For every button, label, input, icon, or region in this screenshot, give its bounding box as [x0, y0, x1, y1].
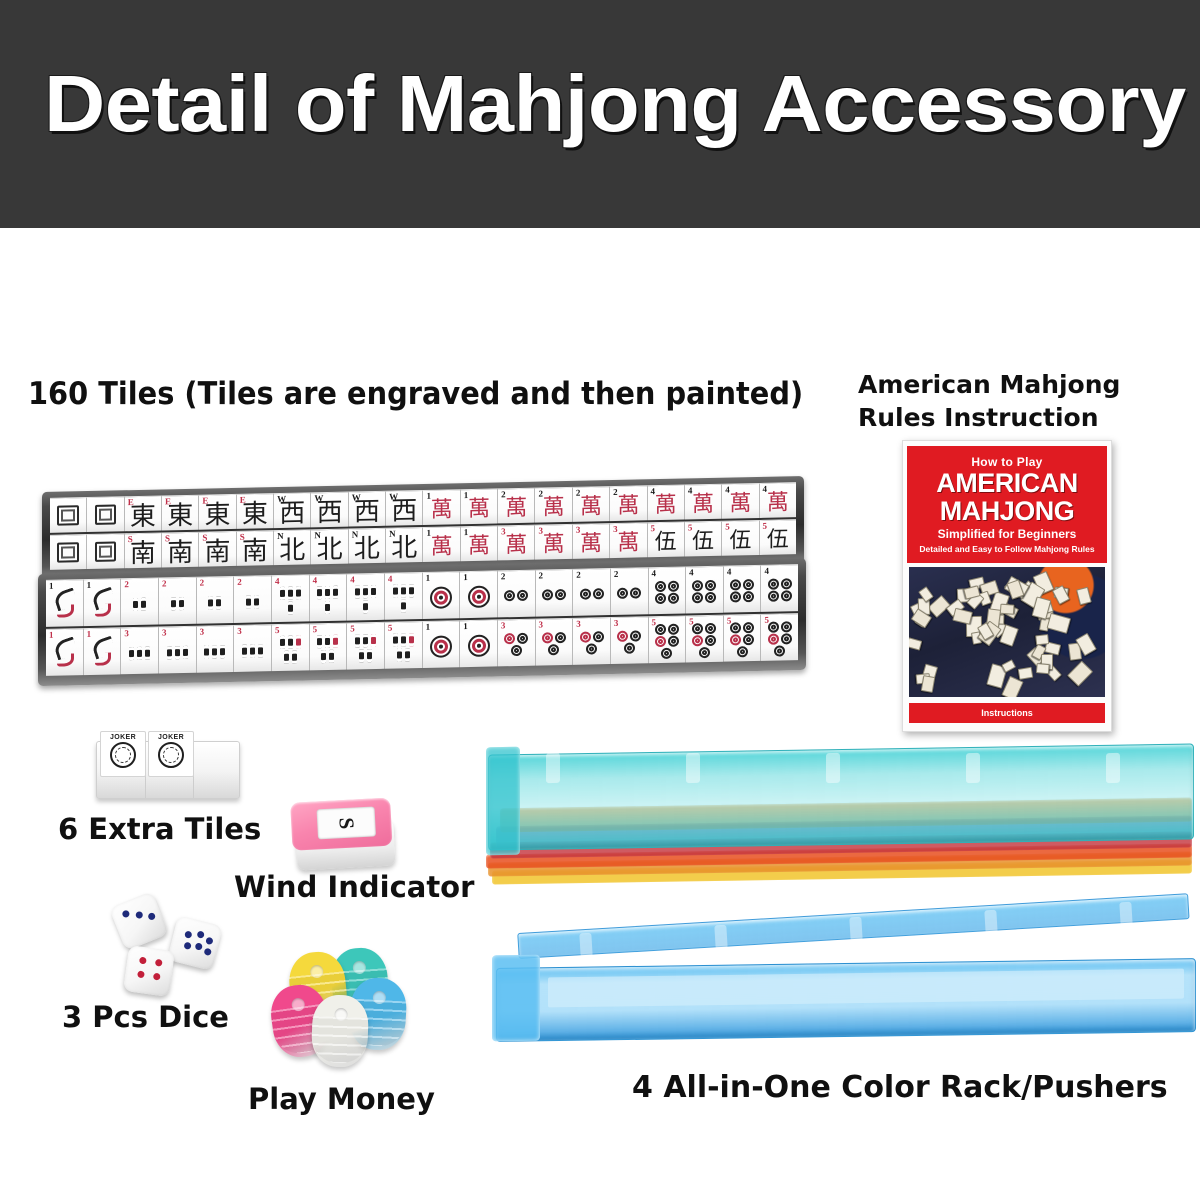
bamboo-bird-icon [50, 634, 79, 671]
blank-tile-frame [57, 505, 79, 525]
die-pip [183, 942, 191, 950]
tile-corner-label: 3 [538, 525, 543, 535]
tile-glyph: 萬 [580, 494, 602, 520]
mahjong-tile: 2 [611, 567, 649, 615]
mahjong-tile: 3萬 [573, 523, 610, 559]
bamboo-stick [175, 646, 180, 659]
tile-corner-label: 3 [576, 619, 581, 629]
tile-corner-label: 2 [162, 578, 167, 588]
tile-glyph: 北 [391, 535, 417, 562]
racks-caption: 4 All-in-One Color Rack/Pushers [632, 1070, 1168, 1105]
dot-circle [768, 591, 779, 602]
dot-circles [577, 631, 606, 655]
mahjong-tile: 4 [385, 572, 423, 620]
bamboo-stick [171, 597, 176, 610]
tile-corner-label: 4 [764, 566, 769, 576]
mahjong-tile: 4 [761, 564, 798, 612]
bamboo-stick [409, 584, 414, 597]
tile-corner-label: 4 [652, 568, 657, 578]
dot-circle [692, 580, 703, 591]
tile-corner-label: N [352, 529, 359, 539]
mahjong-tile: 5 [385, 621, 423, 669]
bamboo-sticks [125, 646, 154, 660]
bamboo-stick [329, 650, 334, 663]
mahjong-tile: 3 [536, 618, 574, 666]
tile-corner-label: S [202, 533, 207, 543]
bamboo-stick [220, 645, 225, 658]
blank-tile-frame [95, 542, 117, 562]
die-pip [155, 959, 163, 967]
dot-circle [781, 621, 792, 632]
die-pip [205, 937, 213, 945]
tile-glyph: 萬 [543, 495, 565, 521]
die-pip [153, 973, 161, 981]
tile-corner-label: 3 [539, 619, 544, 629]
mahjong-tile: 4萬 [648, 485, 685, 521]
extra-tiles-caption: 6 Extra Tiles [58, 812, 261, 846]
tile-tray: 1122224444112222444411333355551133335555 [38, 558, 806, 686]
bamboo-stick [296, 587, 301, 600]
tile-glyph: 萬 [617, 530, 639, 556]
dot-circle [624, 643, 635, 654]
mahjong-tile: S南 [199, 531, 236, 567]
dot-circle [730, 634, 741, 645]
tile-corner-label: 1 [464, 490, 469, 500]
mahjong-tile: 1 [460, 570, 498, 618]
mahjong-tile: 5 [649, 615, 687, 663]
tile-glyph: 萬 [505, 532, 527, 558]
tile-glyph: 萬 [617, 493, 639, 519]
tile-corner-label: 2 [237, 577, 242, 587]
bamboo-stick [401, 584, 406, 597]
mahjong-tile: 5 [272, 623, 310, 671]
tile-corner-label: 5 [689, 616, 694, 626]
cover-photo-tile [1000, 604, 1015, 615]
bamboo-stick [325, 586, 330, 599]
tile-corner-label: E [240, 495, 246, 505]
mahjong-tile: 1 [84, 578, 122, 626]
dot-circle [730, 622, 741, 633]
rack-body-teal [488, 743, 1194, 850]
mahjong-tile [87, 533, 124, 569]
bamboo-stick [288, 636, 293, 649]
mahjong-tile: 3 [498, 619, 536, 667]
dot-circle [655, 581, 666, 592]
die-pip [184, 930, 192, 938]
mahjong-tile: 5 [724, 614, 762, 662]
dot-circle [555, 632, 566, 643]
dot-circle [468, 585, 490, 607]
die-pip [196, 930, 204, 938]
tile-corner-label: W [389, 492, 398, 502]
tile-glyph: 萬 [729, 491, 751, 517]
bamboo-stick [355, 585, 360, 598]
dot-circle [517, 590, 528, 601]
tile-corner-label: 2 [613, 487, 618, 497]
bamboo-sticks [276, 586, 305, 615]
bamboo-stick [280, 587, 285, 600]
bamboo-stick [321, 650, 326, 663]
dot-circle [743, 579, 754, 590]
dot-circle [743, 634, 754, 645]
cover-photo-tile [1017, 667, 1033, 680]
bamboo-stick [167, 646, 172, 659]
tile-corner-label: S [240, 532, 245, 542]
dot-circle [668, 624, 679, 635]
rack-rib [714, 925, 727, 950]
bamboo-sticks [276, 635, 305, 664]
tile-glyph: 西 [354, 498, 380, 525]
rules-caption: American Mahjong Rules Instruction [858, 368, 1188, 434]
mahjong-tile: N北 [349, 528, 386, 564]
joker-circle-icon [110, 742, 136, 768]
dot-circle [630, 587, 641, 598]
bamboo-sticks [314, 586, 343, 615]
bamboo-stick [367, 649, 372, 662]
joker-circle-icon [158, 742, 184, 768]
tile-corner-label: 2 [501, 571, 506, 581]
dot-circle [468, 634, 490, 656]
dot-circle [730, 579, 741, 590]
bamboo-bird-icon [87, 633, 116, 670]
tile-corner-label: W [352, 492, 361, 502]
tile-corner-label: 4 [275, 576, 280, 586]
tile-corner-label: 5 [651, 523, 656, 533]
rules-booklet: How to Play AMERICAN MAHJONG Simplified … [902, 440, 1112, 732]
dot-circle [617, 588, 628, 599]
rack-end-cap [492, 955, 540, 1042]
mahjong-tile: 4 [272, 574, 310, 622]
bamboo-stick [325, 635, 330, 648]
mahjong-tile: 4 [649, 566, 687, 614]
tile-glyph: 伍 [729, 528, 751, 554]
mahjong-tile: E東 [199, 494, 236, 530]
dot-circle [668, 636, 679, 647]
tile-glyph: 東 [167, 502, 193, 529]
die-pip [147, 912, 156, 921]
cover-photo-tile [953, 608, 974, 625]
rack-rib [1119, 901, 1132, 926]
bamboo-stick [145, 646, 150, 659]
tile-corner-label: 5 [763, 521, 768, 531]
dot-circle [768, 579, 779, 590]
mahjong-tile: 2 [498, 570, 536, 618]
mahjong-tile: 4萬 [722, 483, 759, 519]
joker-tile-label: JOKER [110, 734, 136, 741]
page-title: Detail of Mahjong Accessory [44, 62, 1200, 146]
mahjong-tile: 4 [724, 565, 762, 613]
bamboo-stick [246, 595, 251, 608]
bamboo-stick [216, 596, 221, 609]
dot-circles [690, 623, 719, 659]
dot-circle [743, 622, 754, 633]
tile-corner-label: 3 [501, 526, 506, 536]
dot-circle [705, 623, 716, 634]
bamboo-sticks [201, 596, 230, 610]
booklet-title-line2: MAHJONG [940, 497, 1075, 525]
cover-photo-tile [1046, 613, 1070, 634]
dot-circles [765, 621, 794, 657]
mahjong-tile: 3 [234, 624, 272, 672]
dot-circle [705, 635, 716, 646]
mahjong-tile: 4 [310, 574, 348, 622]
mahjong-tile: 3萬 [535, 524, 572, 560]
dot-circles [539, 632, 568, 656]
mahjong-tile: 2 [536, 569, 574, 617]
mahjong-tile: 2萬 [610, 485, 647, 521]
dot-circle [699, 647, 710, 658]
bamboo-stick [359, 649, 364, 662]
dot-circle [593, 588, 604, 599]
mahjong-tile: 5 [347, 622, 385, 670]
tile-glyph: 南 [167, 539, 193, 566]
rack-rib [686, 753, 700, 783]
cover-photo-tile [1076, 587, 1092, 606]
bamboo-stick [288, 587, 293, 600]
mahjong-tile: 1 [46, 628, 84, 676]
dot-circle [730, 591, 741, 602]
tile-glyph: 北 [279, 537, 305, 564]
bamboo-stick [325, 601, 330, 614]
dot-circle [774, 645, 785, 656]
tile-glyph: 東 [130, 503, 156, 530]
play-money-chip-stack [311, 994, 369, 1068]
dot-circle [781, 633, 792, 644]
mahjong-tile: 5伍 [722, 520, 759, 556]
bamboo-stick [317, 635, 322, 648]
bamboo-stick [183, 645, 188, 658]
tile-glyph: 萬 [767, 490, 789, 516]
wind-indicator-window: S [317, 806, 376, 839]
mahjong-tile: 2 [234, 575, 272, 623]
mahjong-tile: 1萬 [461, 525, 498, 561]
rack-pusher-single [490, 905, 1200, 1055]
dot-circle [655, 624, 666, 635]
tile-corner-label: 3 [162, 627, 167, 637]
bamboo-stick [363, 634, 368, 647]
bamboo-sticks [389, 584, 418, 613]
die-pip [139, 957, 147, 965]
cover-photo-tile [1035, 663, 1049, 674]
tile-corner-label: S [165, 533, 170, 543]
dot-circles [615, 630, 644, 654]
bamboo-stick [208, 596, 213, 609]
mahjong-tile: 1萬 [423, 489, 460, 525]
bamboo-stick [317, 586, 322, 599]
dot-circles [426, 586, 455, 609]
tile-glyph: 南 [205, 539, 231, 566]
dot-circle [705, 580, 716, 591]
dot-circles [426, 635, 455, 658]
mahjong-tile: 3 [121, 627, 159, 675]
booklet-title-line1: AMERICAN [936, 469, 1078, 497]
mahjong-tile: S南 [237, 530, 274, 566]
bamboo-stick [333, 635, 338, 648]
wind-indicator-letter: S [333, 816, 359, 829]
bamboo-stick [292, 651, 297, 664]
bamboo-stick [371, 634, 376, 647]
mahjong-tile: 5伍 [760, 519, 796, 555]
dot-circle [430, 586, 452, 608]
booklet-subtitle: Simplified for Beginners [938, 527, 1077, 541]
tile-corner-label: E [165, 496, 171, 506]
dot-circle [668, 593, 679, 604]
bamboo-stick [280, 636, 285, 649]
tile-glyph: 萬 [505, 495, 527, 521]
bamboo-stick [137, 646, 142, 659]
mahjong-tile: E東 [237, 493, 274, 529]
tile-corner-label: S [128, 534, 133, 544]
joker-tile: JOKER [148, 731, 194, 777]
dot-circle [768, 634, 779, 645]
tile-corner-label: 4 [313, 575, 318, 585]
bamboo-sticks [201, 645, 230, 659]
bamboo-bird-icon [50, 585, 79, 622]
bamboo-stick [179, 596, 184, 609]
booklet-how-to-play: How to Play [971, 455, 1042, 469]
dot-circle [580, 588, 591, 599]
tile-corner-label: 3 [200, 627, 205, 637]
tile-glyph: 萬 [543, 532, 565, 558]
rack-rib [849, 917, 862, 942]
tile-corner-label: 2 [539, 570, 544, 580]
mahjong-tile: N北 [386, 527, 423, 563]
bamboo-stick [363, 585, 368, 598]
die [167, 915, 223, 971]
bamboo-stick [250, 644, 255, 657]
bamboo-stick [371, 585, 376, 598]
mahjong-tile: 4 [347, 573, 385, 621]
tile-glyph: 南 [242, 538, 268, 565]
mahjong-tile: 5 [310, 623, 348, 671]
rack-rib [966, 753, 980, 783]
mahjong-tile: 2 [159, 577, 197, 625]
mahjong-tile: W西 [386, 490, 423, 526]
rack-rib [984, 909, 997, 934]
tile-glyph: 萬 [468, 496, 490, 522]
mahjong-tile: W西 [349, 491, 386, 527]
tile-corner-label: 2 [124, 579, 129, 589]
blank-tile-frame [95, 505, 117, 525]
tile-tray-inner: 1122224444112222444411333355551133335555 [46, 564, 798, 676]
tile-corner-label: E [202, 495, 208, 505]
tile-glyph: 南 [130, 540, 156, 567]
tile-corner-label: 1 [426, 622, 431, 632]
tile-corner-label: 1 [463, 572, 468, 582]
tile-corner-label: 5 [764, 615, 769, 625]
bamboo-stick [254, 595, 259, 608]
bamboo-stick [405, 648, 410, 661]
dot-circle [668, 581, 679, 592]
dot-circles [539, 589, 568, 601]
mahjong-tile: 4萬 [685, 484, 722, 520]
tile-glyph: 西 [391, 498, 417, 525]
mahjong-tile: 1 [46, 579, 84, 627]
tile-corner-label: E [128, 497, 134, 507]
mahjong-tile [50, 534, 87, 570]
dot-circle [542, 632, 553, 643]
bamboo-sticks [314, 635, 343, 664]
tile-corner-label: W [314, 493, 323, 503]
tile-corner-label: W [277, 494, 286, 504]
tile-corner-label: 5 [275, 625, 280, 635]
tile-corner-label: 5 [688, 522, 693, 532]
tile-corner-label: 3 [613, 524, 618, 534]
mahjong-tile: 3 [611, 616, 649, 664]
tile-glyph: 萬 [431, 534, 453, 560]
bamboo-sticks [125, 597, 154, 611]
mahjong-tile [87, 496, 124, 532]
rack-pusher-stack [486, 745, 1200, 905]
cover-photo-tile [1034, 634, 1048, 645]
dot-circles [464, 634, 493, 657]
tile-corner-label: 1 [463, 621, 468, 631]
tile-corner-label: 2 [200, 578, 205, 588]
bamboo-bird-icon [87, 584, 116, 621]
tile-corner-label: 4 [689, 567, 694, 577]
dot-circle [548, 644, 559, 655]
tile-corner-label: 1 [426, 491, 431, 501]
dot-circles [577, 588, 606, 600]
mahjong-tile: 1 [460, 619, 498, 667]
tile-corner-label: 4 [763, 484, 768, 494]
tile-corner-label: 5 [652, 617, 657, 627]
rack-rib [546, 753, 560, 783]
dot-circle [705, 592, 716, 603]
bamboo-stick [284, 651, 289, 664]
mahjong-tile: 3萬 [610, 522, 647, 558]
tile-glyph: 北 [317, 536, 343, 563]
booklet-footer: Instructions [909, 703, 1105, 723]
tile-corner-label: 2 [614, 569, 619, 579]
dot-circles [652, 624, 681, 660]
dot-circle [661, 648, 672, 659]
dot-circle [617, 631, 628, 642]
tile-corner-label: N [277, 531, 284, 541]
mahjong-tile: 2 [121, 578, 159, 626]
mahjong-tile: 2萬 [573, 486, 610, 522]
dot-circle [737, 646, 748, 657]
dot-circles [464, 585, 493, 608]
bamboo-stick [288, 602, 293, 615]
joker-tile: JOKER [100, 731, 146, 777]
dot-circle [504, 590, 515, 601]
tile-corner-label: 4 [651, 486, 656, 496]
tile-corner-label: N [389, 529, 396, 539]
mahjong-tile: 2萬 [498, 488, 535, 524]
tile-glyph: 萬 [580, 531, 602, 557]
bamboo-stick [363, 600, 368, 613]
mahjong-tile: E東 [162, 495, 199, 531]
dot-circle [511, 645, 522, 656]
mahjong-tile: 3 [197, 625, 235, 673]
tile-glyph: 萬 [468, 533, 490, 559]
cover-photo-tile [909, 637, 922, 650]
tile-glyph: 伍 [655, 529, 677, 555]
mahjong-tile [50, 497, 87, 533]
dot-circles [652, 581, 681, 605]
mahjong-tile: N北 [311, 529, 348, 565]
mahjong-tile: 4 [686, 566, 724, 614]
tile-glyph: 西 [279, 500, 305, 527]
bamboo-stick [355, 634, 360, 647]
bamboo-stick [141, 597, 146, 610]
blank-tile-frame [57, 542, 79, 562]
tile-corner-label: 4 [350, 574, 355, 584]
mahjong-tile: 1 [84, 627, 122, 675]
die-pip [203, 948, 211, 956]
play-money-caption: Play Money [248, 1082, 435, 1116]
